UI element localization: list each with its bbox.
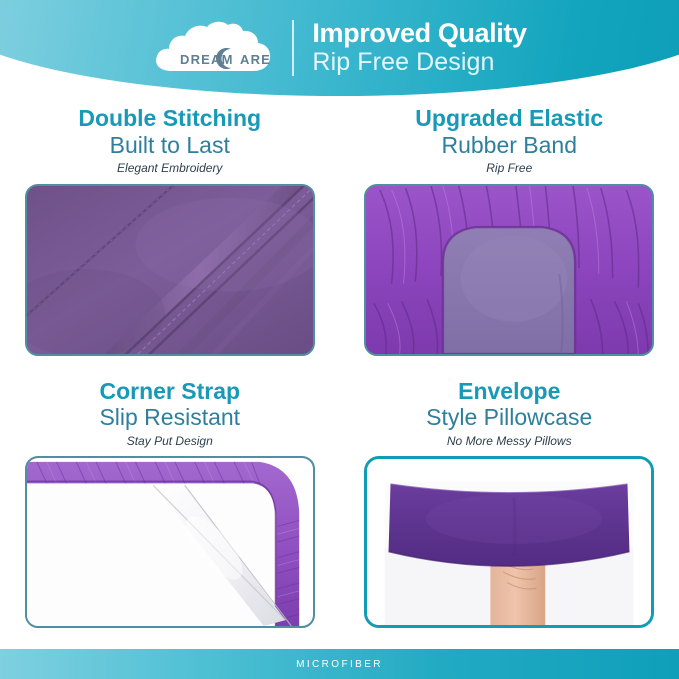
feature-card-envelope-pillowcase: Envelope Style Pillowcase No More Messy … bbox=[340, 369, 679, 642]
feature-card-double-stitching: Double Stitching Built to Last Elegant E… bbox=[0, 96, 340, 369]
header-subtitle: Rip Free Design bbox=[312, 48, 526, 77]
feature-title: Corner Strap bbox=[99, 379, 240, 405]
feature-grid: Double Stitching Built to Last Elegant E… bbox=[0, 96, 679, 641]
footer-label: MICROFIBER bbox=[296, 659, 383, 670]
feature-title: Upgraded Elastic bbox=[415, 106, 603, 132]
feature-note: Rip Free bbox=[486, 161, 532, 175]
photo-envelope-pillowcase bbox=[364, 456, 654, 628]
feature-subtitle: Built to Last bbox=[110, 132, 230, 159]
feature-subtitle: Rubber Band bbox=[441, 132, 577, 159]
feature-card-corner-strap: Corner Strap Slip Resistant Stay Put Des… bbox=[0, 369, 340, 642]
feature-title: Double Stitching bbox=[78, 106, 261, 132]
photo-upgraded-elastic bbox=[364, 184, 654, 356]
feature-note: Elegant Embroidery bbox=[117, 161, 222, 175]
feature-subtitle: Slip Resistant bbox=[99, 404, 240, 431]
feature-note: Stay Put Design bbox=[127, 434, 213, 448]
dream-care-cloud-logo: DREAM ARE bbox=[152, 19, 276, 77]
header-title: Improved Quality bbox=[312, 19, 526, 48]
feature-note: No More Messy Pillows bbox=[447, 434, 572, 448]
logo-word-dream: DREAM bbox=[180, 52, 234, 67]
photo-corner-strap bbox=[25, 456, 315, 628]
feature-title: Envelope bbox=[458, 379, 560, 405]
feature-subtitle: Style Pillowcase bbox=[426, 404, 592, 431]
header-banner: DREAM ARE Improved Quality Rip Free Desi… bbox=[0, 0, 679, 96]
logo-word-are: ARE bbox=[240, 52, 271, 67]
feature-card-upgraded-elastic: Upgraded Elastic Rubber Band Rip Free bbox=[340, 96, 679, 369]
footer-bar: MICROFIBER bbox=[0, 649, 679, 679]
header-divider bbox=[292, 20, 294, 76]
photo-double-stitching bbox=[25, 184, 315, 356]
